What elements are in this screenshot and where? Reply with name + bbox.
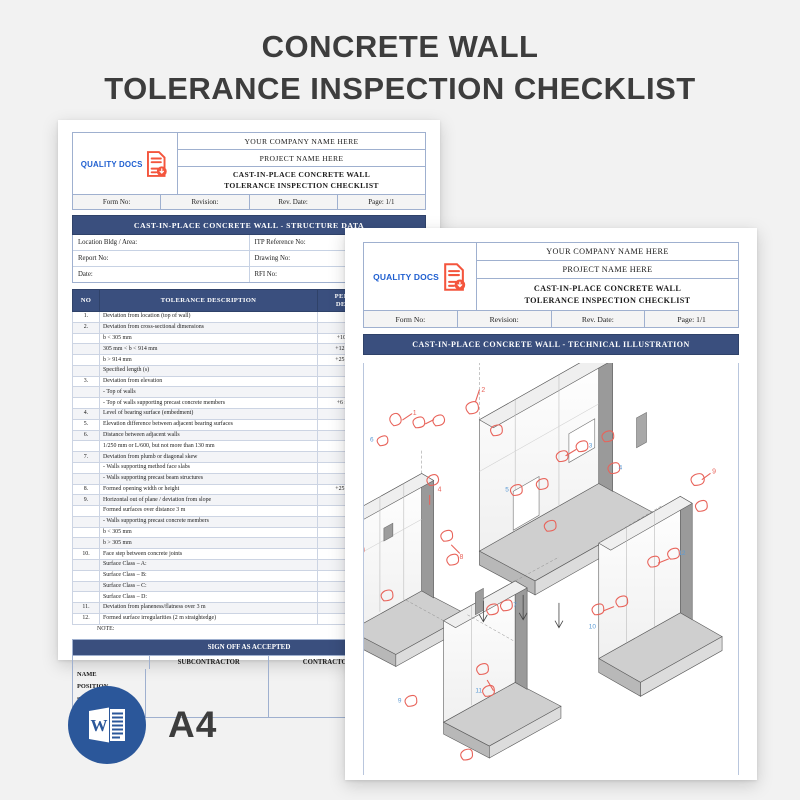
field-report-no: Report No: xyxy=(78,255,108,262)
svg-text:8: 8 xyxy=(459,554,463,561)
document-meta-row: Form No: Revision: Rev. Date: Page: 1/1 xyxy=(72,194,426,210)
cell-no: 2. xyxy=(73,322,100,333)
cell-no: 6. xyxy=(73,430,100,441)
svg-text:9: 9 xyxy=(712,469,716,476)
signoff-col-subcontractor: SUBCONTRACTOR xyxy=(150,656,269,669)
cell-no xyxy=(73,559,100,570)
document-download-icon xyxy=(441,262,467,291)
meta-rev-date: Rev. Date: xyxy=(250,195,338,209)
cell-no: 1. xyxy=(73,312,100,323)
cell-description: Horizontal out of plane / deviation from… xyxy=(100,495,318,506)
field-rfi-no: RFI No: xyxy=(255,271,277,278)
meta-page: Page: 1/1 xyxy=(338,195,425,209)
cell-no xyxy=(73,398,100,409)
wall-assembly-bottom xyxy=(444,581,561,758)
cell-no xyxy=(73,506,100,517)
document-download-icon xyxy=(145,150,169,178)
cell-description: Deviation from location (top of wall) xyxy=(100,312,318,323)
signoff-col-blank xyxy=(73,656,150,669)
cell-no xyxy=(73,462,100,473)
cell-description: Formed surface irregularities (2 m strai… xyxy=(100,613,318,624)
isometric-wall-drawing: 1 6 4 2 5 3 4 8 xyxy=(364,363,738,775)
cell-no: 9. xyxy=(73,495,100,506)
format-label: A4 xyxy=(168,704,217,746)
cell-no xyxy=(73,344,100,355)
cell-no xyxy=(73,516,100,527)
cell-description: b > 305 mm xyxy=(100,538,318,549)
technical-illustration: 1 6 4 2 5 3 4 8 xyxy=(363,363,739,775)
illustration-document-sheet[interactable]: QUALITY DOCS YOUR COMPANY NAME HERE PROJ… xyxy=(345,228,757,780)
svg-text:1: 1 xyxy=(413,410,417,417)
cell-no: 5. xyxy=(73,419,100,430)
cell-description: Formed opening width or height xyxy=(100,484,318,495)
cell-no: 8. xyxy=(73,484,100,495)
cell-description: Deviation from elevation xyxy=(100,376,318,387)
word-icon-circle: W xyxy=(68,686,146,764)
cell-description: Level of bearing surface (embedment) xyxy=(100,409,318,420)
document-header: QUALITY DOCS YOUR COMPANY NAME HERE PROJ… xyxy=(363,242,739,310)
cell-no: 10. xyxy=(73,549,100,560)
file-format-badge: W A4 xyxy=(68,686,217,764)
field-date: Date: xyxy=(78,271,93,278)
document-header: QUALITY DOCS YOUR COMPANY NAME HERE PROJ… xyxy=(72,132,426,194)
document-title-line-2: TOLERANCE INSPECTION CHECKLIST xyxy=(479,295,736,307)
document-title-line-1: CAST-IN-PLACE CONCRETE WALL xyxy=(180,170,423,181)
microsoft-word-icon: W xyxy=(82,700,132,750)
cell-description: 305 mm < b < 914 mm xyxy=(100,344,318,355)
cell-description: - Top of walls xyxy=(100,387,318,398)
cell-description: b < 305 mm xyxy=(100,333,318,344)
meta-revision: Revision: xyxy=(458,311,552,327)
cell-no: 3. xyxy=(73,376,100,387)
svg-text:2: 2 xyxy=(481,387,485,394)
project-name-field: PROJECT NAME HERE xyxy=(477,261,738,279)
document-title-line-1: CAST-IN-PLACE CONCRETE WALL xyxy=(479,283,736,295)
field-itp-reference: ITP Reference No: xyxy=(255,239,306,246)
cell-description: - Walls supporting precast concrete memb… xyxy=(100,516,318,527)
cell-no xyxy=(73,570,100,581)
page-title-line-2: TOLERANCE INSPECTION CHECKLIST xyxy=(0,68,800,110)
svg-text:5: 5 xyxy=(505,486,509,493)
svg-text:12: 12 xyxy=(678,550,686,557)
cell-description: Formed surfaces over distance 3 m xyxy=(100,506,318,517)
svg-text:6: 6 xyxy=(370,437,374,444)
cell-no xyxy=(73,387,100,398)
cell-description: Face step between concrete joints xyxy=(100,549,318,560)
logo-text: QUALITY DOCS xyxy=(373,272,439,281)
document-title: CAST-IN-PLACE CONCRETE WALL TOLERANCE IN… xyxy=(178,167,425,194)
signoff-label-name: NAME xyxy=(73,669,145,681)
company-name-field: YOUR COMPANY NAME HERE xyxy=(178,133,425,150)
document-title-line-2: TOLERANCE INSPECTION CHECKLIST xyxy=(180,181,423,192)
svg-text:4: 4 xyxy=(438,486,442,493)
cell-description: Deviation from cross-sectional dimension… xyxy=(100,322,318,333)
document-title: CAST-IN-PLACE CONCRETE WALL TOLERANCE IN… xyxy=(477,279,738,310)
logo-text: QUALITY DOCS xyxy=(81,159,143,168)
svg-text:10: 10 xyxy=(589,624,597,631)
meta-rev-date: Rev. Date: xyxy=(552,311,646,327)
quality-docs-logo: QUALITY DOCS xyxy=(373,262,467,291)
cell-no: 4. xyxy=(73,409,100,420)
cell-description: b > 914 mm xyxy=(100,355,318,366)
project-name-field: PROJECT NAME HERE xyxy=(178,150,425,167)
cell-description: Surface Class – B: xyxy=(100,570,318,581)
cell-no xyxy=(73,473,100,484)
company-name-field: YOUR COMPANY NAME HERE xyxy=(477,243,738,261)
th-description: TOLERANCE DESCRIPTION xyxy=(100,290,318,312)
cell-description: Elevation difference between adjacent be… xyxy=(100,419,318,430)
cell-description: Deviation from planeness/flatness over 3… xyxy=(100,603,318,614)
page-title: CONCRETE WALL TOLERANCE INSPECTION CHECK… xyxy=(0,26,800,110)
word-icon-letter: W xyxy=(91,716,108,735)
cell-no xyxy=(73,355,100,366)
wall-assembly-right xyxy=(599,412,722,696)
cell-no xyxy=(73,365,100,376)
cell-no xyxy=(73,441,100,452)
cell-no: 11. xyxy=(73,603,100,614)
meta-form-no: Form No: xyxy=(73,195,161,209)
svg-text:4: 4 xyxy=(619,465,623,472)
cell-no xyxy=(73,527,100,538)
cell-no xyxy=(73,581,100,592)
field-location: Location Bldg / Area: xyxy=(78,239,137,246)
cell-no xyxy=(73,538,100,549)
cell-no xyxy=(73,592,100,603)
cell-description: - Walls supporting precast beam structur… xyxy=(100,473,318,484)
cell-description: Surface Class – D: xyxy=(100,592,318,603)
cell-description: Deviation from plumb or diagonal skew xyxy=(100,452,318,463)
cell-description: Distance between adjacent walls xyxy=(100,430,318,441)
meta-page: Page: 1/1 xyxy=(645,311,738,327)
cell-description: Surface Class – A: xyxy=(100,559,318,570)
cell-description: b < 305 mm xyxy=(100,527,318,538)
logo-cell: QUALITY DOCS xyxy=(73,133,178,194)
cell-no: 12. xyxy=(73,613,100,624)
cell-no xyxy=(73,333,100,344)
quality-docs-logo: QUALITY DOCS xyxy=(81,150,169,178)
logo-cell: QUALITY DOCS xyxy=(364,243,477,310)
cell-no: 7. xyxy=(73,452,100,463)
illustration-banner: CAST-IN-PLACE CONCRETE WALL - TECHNICAL … xyxy=(363,334,739,355)
cell-description: 1/250 mm or L/600, but not more than 130… xyxy=(100,441,318,452)
th-no: NO xyxy=(73,290,100,312)
cell-description: - Top of walls supporting precast concre… xyxy=(100,398,318,409)
meta-form-no: Form No: xyxy=(364,311,458,327)
meta-revision: Revision: xyxy=(161,195,249,209)
cell-description: Specified length (s) xyxy=(100,365,318,376)
svg-text:3: 3 xyxy=(589,443,593,450)
field-drawing-no: Drawing No: xyxy=(255,255,291,262)
document-meta-row: Form No: Revision: Rev. Date: Page: 1/1 xyxy=(363,310,739,328)
svg-text:9: 9 xyxy=(398,697,402,704)
svg-text:7: 7 xyxy=(513,602,517,609)
cell-description: - Walls supporting method face slabs xyxy=(100,462,318,473)
page-title-line-1: CONCRETE WALL xyxy=(0,26,800,68)
svg-text:11: 11 xyxy=(475,687,482,694)
cell-description: Surface Class – C: xyxy=(100,581,318,592)
